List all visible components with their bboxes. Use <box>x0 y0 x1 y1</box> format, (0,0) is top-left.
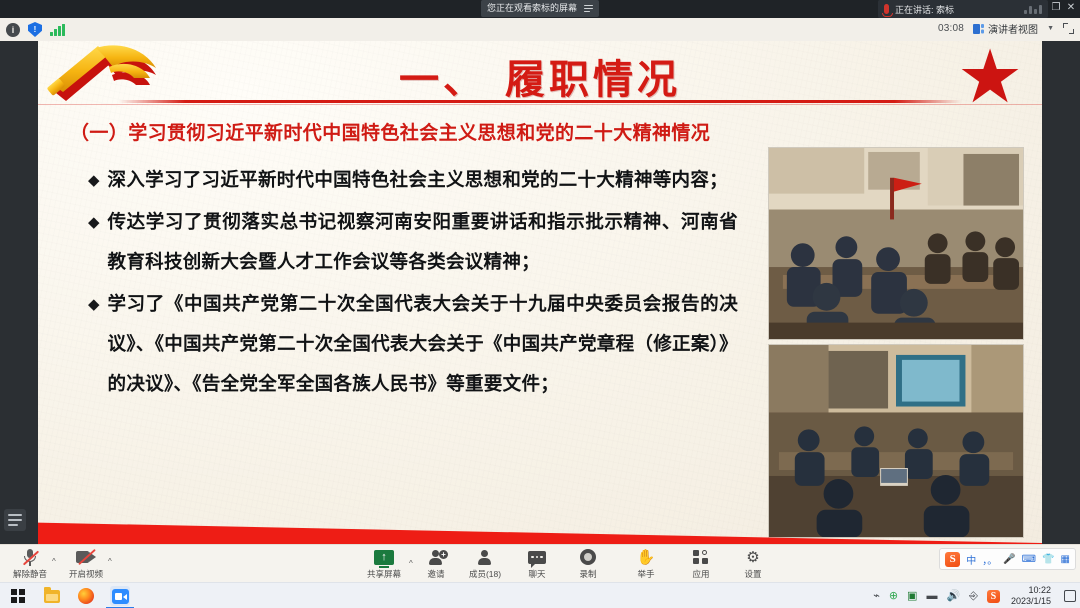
keyboard-icon[interactable]: ⌨ <box>1022 554 1036 565</box>
view-controls-group: 03:08 演讲者视图 ▼ <box>938 21 1074 36</box>
settings-label: 设置 <box>744 568 761 580</box>
sogou-logo-icon[interactable]: S <box>945 552 960 567</box>
info-icon[interactable]: i <box>6 23 20 37</box>
microphone-active-icon <box>884 4 889 14</box>
close-window-button[interactable]: ✕ <box>1064 1 1078 15</box>
zoom-control-bar: 解除静音 ^ 开启视频 ^ 共享屏幕 ^ + 邀请 成员(18) <box>0 544 1080 582</box>
start-video-label: 开启视频 <box>69 568 103 580</box>
diamond-bullet-icon: ◆ <box>88 285 100 325</box>
invite-icon: + <box>427 548 445 566</box>
ime-punctuation-toggle[interactable]: ，。 <box>982 552 997 567</box>
layout-icon <box>973 24 984 34</box>
slide-photo-bottom <box>768 344 1024 538</box>
shared-screen-area: ★ 一、 履职情况 （一）学习贯彻习近平新时代中国特色社会主义思想和党的二十大精… <box>0 41 1080 544</box>
raise-hand-label: 举手 <box>637 568 654 580</box>
wifi-icon[interactable]: ⌁ <box>873 591 880 602</box>
skin-icon[interactable]: 👕 <box>1042 554 1054 565</box>
watching-screen-toast: 您正在观看索标的屏幕 <box>481 0 599 17</box>
chat-button[interactable]: 聊天 <box>511 547 563 581</box>
diamond-bullet-icon: ◆ <box>88 161 100 201</box>
raise-hand-icon: ✋ <box>637 548 656 566</box>
update-icon[interactable]: ⊕ <box>889 591 898 602</box>
taskbar-time: 10:22 <box>1011 585 1051 596</box>
audio-options-caret-icon[interactable]: ^ <box>52 557 56 566</box>
apps-label: 应用 <box>692 568 709 580</box>
sogou-ime-bar[interactable]: S 中 ，。 🎤 ⌨ 👕 ▦ <box>939 548 1076 570</box>
settings-button[interactable]: ⚙ 设置 <box>727 547 779 581</box>
watching-screen-label: 您正在观看索标的屏幕 <box>487 0 577 17</box>
apps-button[interactable]: 应用 <box>675 547 727 581</box>
volume-icon[interactable]: 🔊 <box>946 591 960 602</box>
sogou-tray-icon[interactable]: S <box>987 590 1000 603</box>
start-video-button[interactable]: 开启视频 <box>60 547 112 581</box>
mic-icon[interactable]: 🎤 <box>1003 554 1015 565</box>
raise-hand-button[interactable]: ✋ 举手 <box>620 547 672 581</box>
ime-mode-toggle[interactable]: 中 <box>966 552 976 567</box>
share-screen-icon <box>374 548 394 566</box>
apps-icon <box>693 548 709 566</box>
diamond-bullet-icon: ◆ <box>88 203 100 243</box>
active-speaker-banner[interactable]: 正在讲话: 索标 <box>878 0 1048 18</box>
speaker-view-button[interactable]: 演讲者视图 <box>973 21 1038 36</box>
list-lines-icon[interactable] <box>584 5 593 13</box>
bullet-text: 学习了《中国共产党第二十次全国代表大会关于十九届中央委员会报告的决议》、《中国共… <box>108 285 738 405</box>
zoom-app-icon[interactable] <box>110 586 130 606</box>
record-label: 录制 <box>579 568 596 580</box>
show-desktop-icon[interactable] <box>1064 590 1076 602</box>
taskbar-apps <box>8 586 130 606</box>
participants-button[interactable]: 成员(18) <box>459 547 511 581</box>
slide-title: 一、 履职情况 <box>38 47 1042 105</box>
camera-off-icon <box>76 548 96 566</box>
microphone-muted-icon <box>23 548 37 566</box>
list-item: ◆ 传达学习了贯彻落实总书记视察河南安阳重要讲话和指示批示精神、河南省教育科技创… <box>88 203 738 283</box>
share-screen-label: 共享屏幕 <box>367 568 401 580</box>
windows-start-icon[interactable] <box>8 586 28 606</box>
bullet-text: 传达学习了贯彻落实总书记视察河南安阳重要讲话和指示批示精神、河南省教育科技创新大… <box>108 203 738 283</box>
slide-bullet-list: ◆ 深入学习了习近平新时代中国特色社会主义思想和党的二十大精神等内容； ◆ 传达… <box>88 161 738 407</box>
share-panel-toggle-icon[interactable] <box>4 509 26 531</box>
list-item: ◆ 深入学习了习近平新时代中国特色社会主义思想和党的二十大精神等内容； <box>88 161 738 201</box>
restore-window-button[interactable]: ❐ <box>1049 1 1063 15</box>
file-explorer-icon[interactable] <box>42 586 62 606</box>
participants-icon <box>476 548 494 566</box>
fullscreen-icon[interactable] <box>1063 23 1074 34</box>
network-icon[interactable]: ⎆ <box>969 591 978 602</box>
share-screen-button[interactable]: 共享屏幕 <box>358 547 410 581</box>
shield-icon[interactable]: ! <box>28 22 42 37</box>
battery-icon[interactable]: ▬ <box>926 591 937 602</box>
slide-photo-top <box>768 147 1024 340</box>
slide-subtitle: （一）学习贯彻习近平新时代中国特色社会主义思想和党的二十大精神情况 <box>70 118 710 145</box>
zoom-meeting-screen-share: 您正在观看索标的屏幕 正在讲话: 索标 ❐ ✕ i ! 03:08 演讲者视图 … <box>0 0 1080 608</box>
taskbar-clock[interactable]: 10:22 2023/1/15 <box>1011 585 1051 607</box>
record-button[interactable]: 录制 <box>562 547 614 581</box>
status-icon-group: i ! <box>6 22 65 37</box>
chat-icon <box>528 548 546 566</box>
display-icon[interactable]: ▣ <box>907 591 917 602</box>
chat-label: 聊天 <box>528 568 545 580</box>
title-divider <box>118 100 962 103</box>
settings-gear-icon: ⚙ <box>746 548 759 566</box>
system-tray: ⌁ ⊕ ▣ ▬ 🔊 ⎆ S 10:22 2023/1/15 <box>873 583 1076 608</box>
list-item: ◆ 学习了《中国共产党第二十次全国代表大会关于十九届中央委员会报告的决议》、《中… <box>88 285 738 405</box>
record-icon <box>580 548 596 566</box>
video-options-caret-icon[interactable]: ^ <box>108 557 112 566</box>
bullet-text: 深入学习了习近平新时代中国特色社会主义思想和党的二十大精神等内容； <box>108 161 728 201</box>
presentation-slide: ★ 一、 履职情况 （一）学习贯彻习近平新时代中国特色社会主义思想和党的二十大精… <box>38 41 1042 544</box>
title-divider-secondary <box>38 104 1042 105</box>
windows-taskbar: ⌁ ⊕ ▣ ▬ 🔊 ⎆ S 10:22 2023/1/15 <box>0 582 1080 608</box>
unmute-button[interactable]: 解除静音 <box>4 547 56 581</box>
taskbar-date: 2023/1/15 <box>1011 596 1051 607</box>
share-controls-strip: i ! 03:08 演讲者视图 ▼ <box>0 18 1080 41</box>
meeting-timer: 03:08 <box>938 23 964 34</box>
signal-strength-icon[interactable] <box>50 24 65 36</box>
toolbox-icon[interactable]: ▦ <box>1061 554 1070 565</box>
participants-label: 成员(18) <box>469 568 501 580</box>
unmute-label: 解除静音 <box>13 568 47 580</box>
invite-button[interactable]: + 邀请 <box>410 547 462 581</box>
audio-waveform-icon <box>1024 4 1042 14</box>
invite-label: 邀请 <box>427 568 444 580</box>
meeting-top-strip: 您正在观看索标的屏幕 正在讲话: 索标 ❐ ✕ <box>0 0 1080 18</box>
chevron-down-icon[interactable]: ▼ <box>1047 25 1054 32</box>
firefox-icon[interactable] <box>76 586 96 606</box>
speaker-view-label: 演讲者视图 <box>988 21 1038 36</box>
active-speaker-label: 正在讲话: 索标 <box>895 3 954 16</box>
